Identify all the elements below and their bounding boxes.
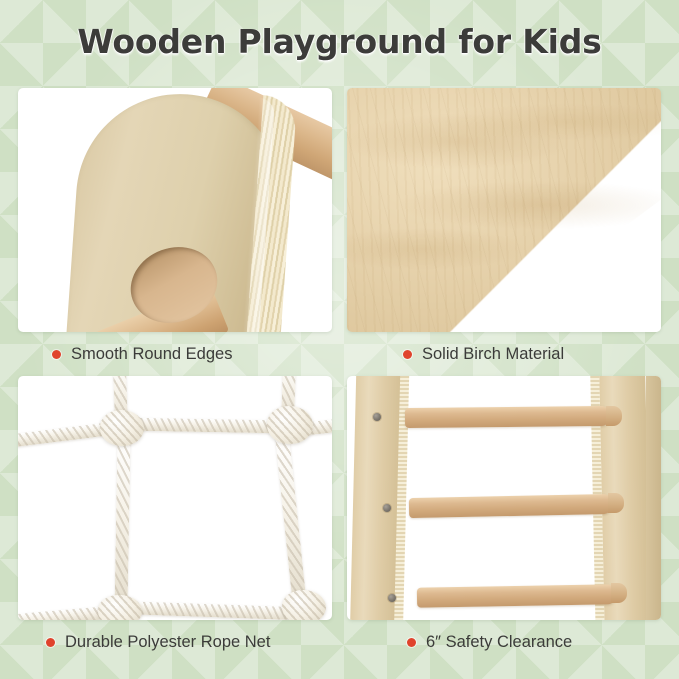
rope-knot	[282, 590, 326, 620]
feature-caption-label: 6″ Safety Clearance	[426, 633, 572, 652]
ladder-rung	[409, 494, 613, 518]
rail-screw	[383, 504, 391, 512]
bullet-dot-icon	[46, 638, 55, 647]
ladder-rung	[405, 406, 611, 428]
ladder-rung-end	[611, 583, 627, 603]
rail-screw	[373, 413, 381, 421]
rope-knot	[98, 595, 142, 620]
feature-cell-durable-polyester-rope-net	[18, 376, 332, 644]
feature-caption-label: Smooth Round Edges	[71, 345, 232, 364]
rope-strand-vertical	[114, 434, 130, 614]
feature-caption-durable-polyester-rope-net: Durable Polyester Rope Net	[46, 633, 270, 652]
ladder-rung-end	[606, 406, 622, 426]
rope-knot	[267, 406, 313, 444]
bullet-dot-icon	[407, 638, 416, 647]
rope-strand-vertical	[275, 432, 308, 610]
feature-caption-6-inch-safety-clearance: 6″ Safety Clearance	[407, 633, 572, 652]
rope-knot	[100, 410, 144, 446]
feature-caption-smooth-round-edges: Smooth Round Edges	[52, 345, 232, 364]
feature-caption-label: Durable Polyester Rope Net	[65, 633, 270, 652]
bullet-dot-icon	[403, 350, 412, 359]
rope-strand-horizontal	[126, 418, 286, 434]
product-feature-poster: Wooden Playground for Kids Smooth Round …	[0, 0, 679, 679]
rope-strand-horizontal	[122, 601, 292, 620]
feature-image-smooth-round-edges	[18, 88, 332, 332]
feature-image-solid-birch-material	[347, 88, 661, 332]
bullet-dot-icon	[52, 350, 61, 359]
ladder-rung	[417, 584, 617, 607]
feature-cell-6-inch-safety-clearance	[347, 376, 661, 644]
page-title: Wooden Playground for Kids	[0, 22, 679, 61]
feature-cell-solid-birch-material	[347, 88, 661, 356]
ladder-rail-right-outer	[646, 376, 661, 620]
feature-caption-solid-birch-material: Solid Birch Material	[403, 345, 564, 364]
ladder-rung-end	[608, 493, 624, 513]
feature-image-6-inch-safety-clearance	[347, 376, 661, 620]
feature-caption-label: Solid Birch Material	[422, 345, 564, 364]
rail-screw	[388, 594, 396, 602]
feature-image-durable-polyester-rope-net	[18, 376, 332, 620]
feature-cell-smooth-round-edges	[18, 88, 332, 356]
